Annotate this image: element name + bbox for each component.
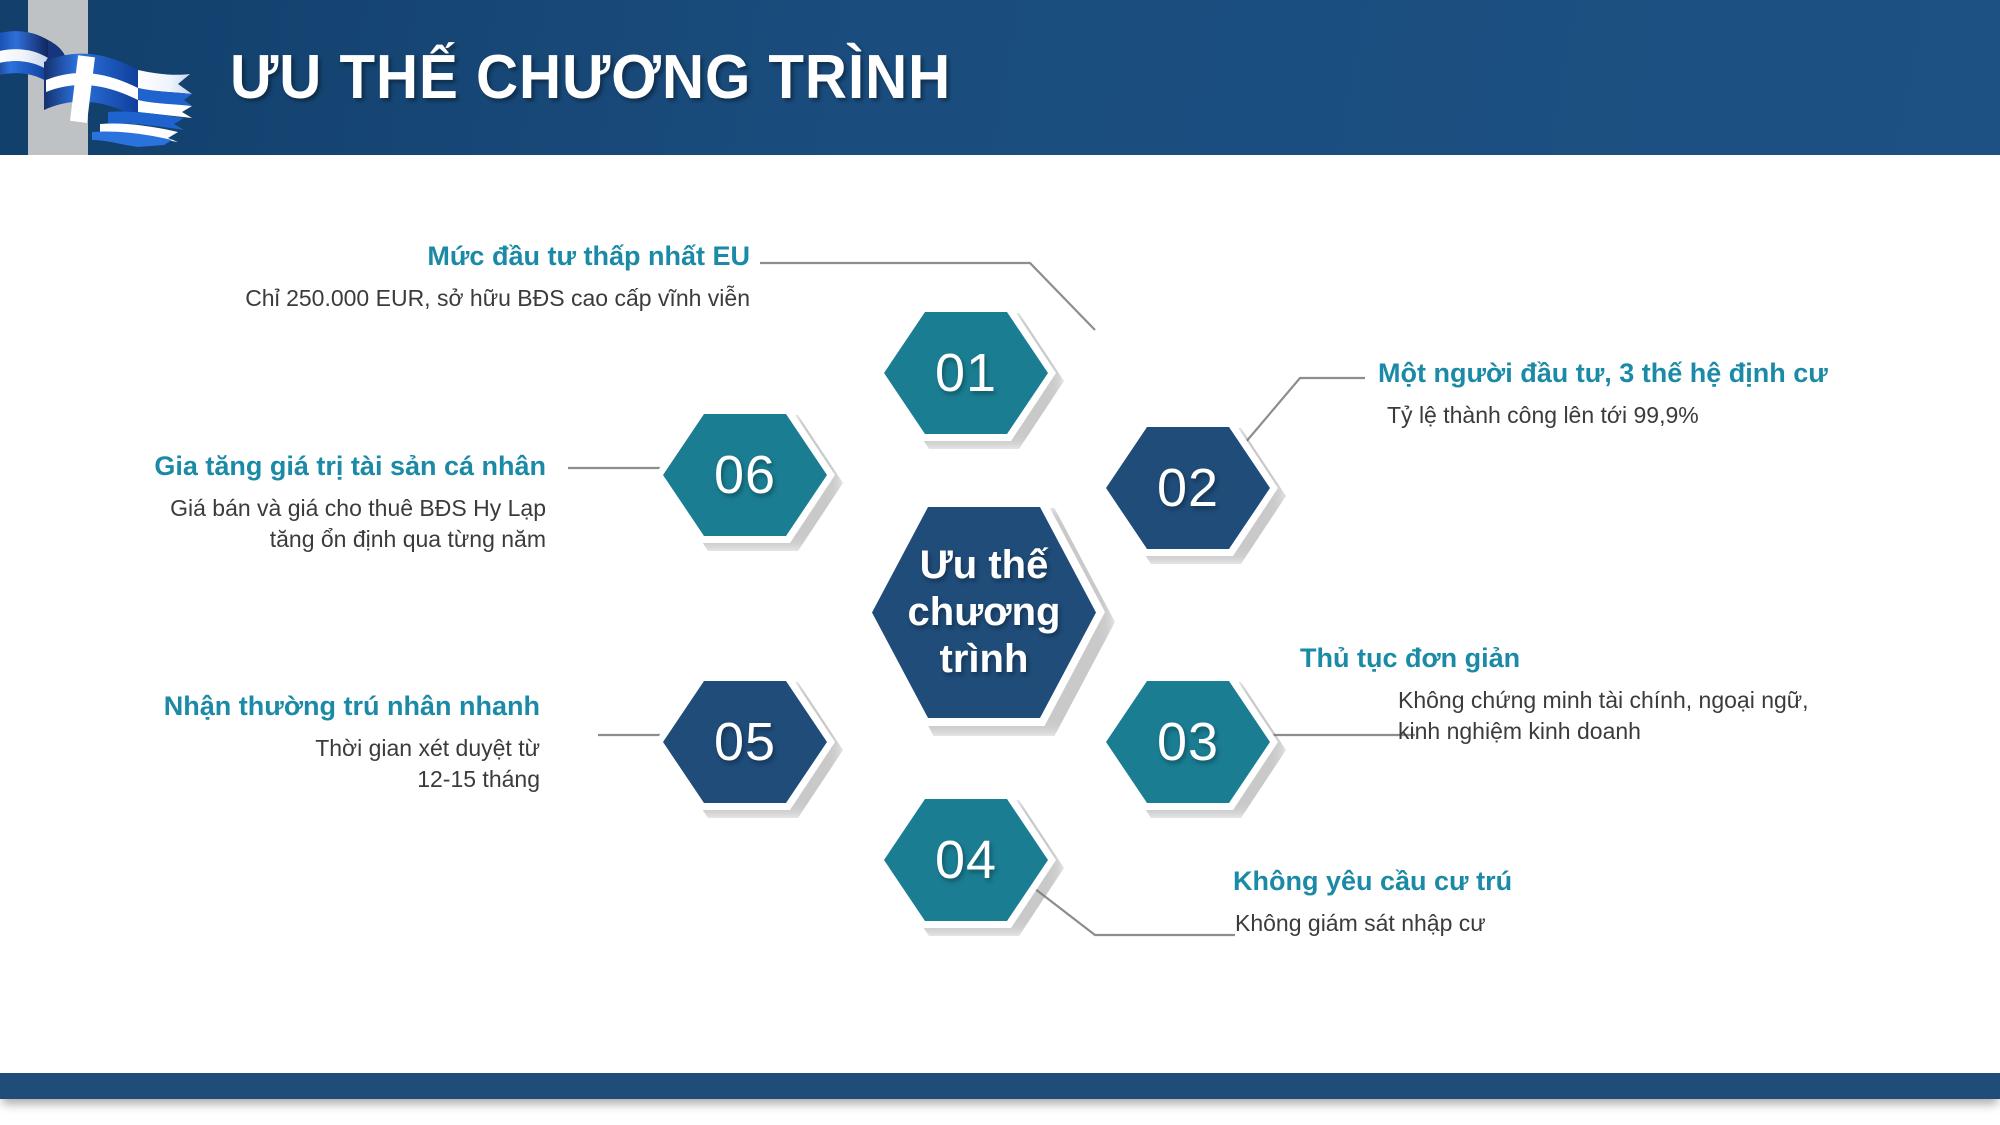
label-block-02: Một người đầu tư, 3 thế hệ định cư Tỷ lệ… [1378,357,1988,431]
page-title: ƯU THẾ CHƯƠNG TRÌNH [230,0,951,155]
hex-01-number: 01 [935,346,997,400]
label-title-02: Một người đầu tư, 3 thế hệ định cư [1378,357,1988,389]
label-desc-02: Tỷ lệ thành công lên tới 99,9% [1378,400,1988,430]
label-desc-03-line-1: Không chứng minh tài chính, ngoại ngữ, [1398,685,1940,715]
label-title-01: Mức đầu tư thấp nhất EU [160,240,750,272]
footer-bar [0,1073,2000,1099]
hex-03-number: 03 [1157,715,1219,769]
hex-06-number: 06 [714,448,776,502]
center-line-2: chương [908,589,1061,636]
label-desc-05-line-2: 12-15 tháng [60,764,540,794]
label-block-05: Nhận thường trú nhân nhanh Thời gian xét… [60,690,540,794]
hex-02-number: 02 [1157,461,1219,515]
center-line-1: Ưu thế [908,542,1061,589]
label-title-05: Nhận thường trú nhân nhanh [60,690,540,722]
slide-canvas: ƯU THẾ CHƯƠNG TRÌNH 01 02 03 04 [0,0,2000,1125]
label-desc-03-line-2: kinh nghiệm kinh doanh [1398,716,1940,746]
label-desc-04-line-1: Không giám sát nhập cư [1235,908,1853,938]
label-desc-03: Không chứng minh tài chính, ngoại ngữ, k… [1300,685,1940,746]
label-desc-06-line-2: tăng ổn định qua từng năm [50,524,546,554]
label-block-04: Không yêu cầu cư trú Không giám sát nhập… [1233,865,1853,939]
label-title-03: Thủ tục đơn giản [1300,642,1940,674]
label-block-03: Thủ tục đơn giản Không chứng minh tài ch… [1300,642,1940,746]
label-desc-06: Giá bán và giá cho thuê BĐS Hy Lạp tăng … [50,493,546,554]
label-desc-06-line-1: Giá bán và giá cho thuê BĐS Hy Lạp [50,493,546,523]
center-line-3: trình [908,636,1061,683]
label-block-06: Gia tăng giá trị tài sản cá nhân Giá bán… [50,450,546,554]
label-title-06: Gia tăng giá trị tài sản cá nhân [50,450,546,482]
label-desc-05-line-1: Thời gian xét duyệt từ [60,733,540,763]
label-desc-05: Thời gian xét duyệt từ 12-15 tháng [60,733,540,794]
greek-flag-ribbon-icon [0,14,198,149]
label-desc-01-line-1: Chỉ 250.000 EUR, sở hữu BĐS cao cấp vĩnh… [160,283,750,313]
label-title-04: Không yêu cầu cư trú [1233,865,1853,897]
hex-04-number: 04 [935,833,997,887]
label-desc-01: Chỉ 250.000 EUR, sở hữu BĐS cao cấp vĩnh… [160,283,750,313]
hex-05-number: 05 [714,715,776,769]
label-block-01: Mức đầu tư thấp nhất EU Chỉ 250.000 EUR,… [160,240,750,314]
slide-header: ƯU THẾ CHƯƠNG TRÌNH [0,0,2000,155]
label-desc-04: Không giám sát nhập cư [1233,908,1853,938]
label-desc-02-line-1: Tỷ lệ thành công lên tới 99,9% [1387,400,1988,430]
